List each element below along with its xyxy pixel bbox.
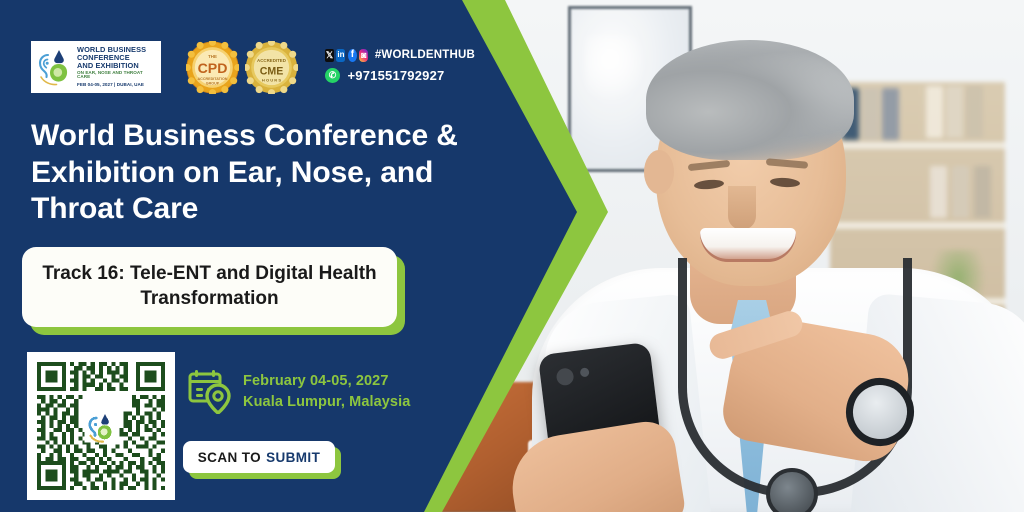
scan-button-face[interactable]: SCAN TO SUBMIT — [183, 441, 335, 473]
logo-date-line: FEB 04-05, 2027 | DUBAI, UAE — [77, 83, 157, 88]
linkedin-icon[interactable]: in — [336, 49, 345, 62]
qr-code-image — [33, 358, 169, 494]
event-logo-text: WORLD BUSINESS CONFERENCE AND EXHIBITION… — [77, 46, 157, 87]
whatsapp-icon[interactable]: ✆ — [325, 68, 340, 83]
social-icons-row: 𝕏 in f ◙ #WORLDENTHUB — [325, 47, 475, 63]
x-twitter-icon[interactable]: 𝕏 — [325, 49, 334, 62]
event-location: Kuala Lumpur, Malaysia — [243, 392, 410, 413]
svg-text:ACCREDITED: ACCREDITED — [257, 58, 286, 63]
conference-banner: WORLD BUSINESS CONFERENCE AND EXHIBITION… — [0, 0, 1024, 512]
hair — [646, 40, 854, 160]
cpd-accreditation-seal: THE CPD ACCREDITATION GROUP — [186, 41, 239, 94]
track-banner[interactable]: Track 16: Tele-ENT and Digital Health Tr… — [22, 247, 397, 327]
cme-hours-seal: ACCREDITED CME H O U R S — [245, 41, 298, 94]
page-title: World Business Conference & Exhibition o… — [31, 118, 471, 228]
track-title: Track 16: Tele-ENT and Digital Health Tr… — [22, 262, 397, 311]
nose — [728, 186, 756, 230]
hashtag-label: #WORLDENTHUB — [375, 49, 475, 61]
phone-number[interactable]: +971551792927 — [348, 68, 445, 83]
location-pin-icon — [207, 385, 229, 413]
whatsapp-row: ✆ +971551792927 — [325, 67, 475, 83]
qr-code[interactable] — [27, 352, 175, 500]
stethoscope-bell-icon — [766, 468, 818, 512]
svg-text:ACCREDITATION: ACCREDITATION — [198, 77, 228, 81]
scan-to-submit-button[interactable]: SCAN TO SUBMIT — [183, 441, 335, 473]
event-logo[interactable]: WORLD BUSINESS CONFERENCE AND EXHIBITION… — [31, 41, 161, 93]
svg-text:H O U R S: H O U R S — [262, 78, 281, 83]
event-detail-text: February 04-05, 2027 Kuala Lumpur, Malay… — [243, 368, 410, 412]
svg-text:GROUP: GROUP — [206, 82, 220, 86]
instagram-icon[interactable]: ◙ — [359, 49, 368, 62]
smile — [700, 228, 796, 262]
social-contact-block: 𝕏 in f ◙ #WORLDENTHUB ✆ +971551792927 — [325, 47, 475, 83]
ear — [644, 150, 674, 194]
logo-line-3: AND EXHIBITION — [77, 62, 157, 70]
svg-text:CME: CME — [260, 66, 284, 78]
event-detail-icons — [188, 368, 234, 414]
event-details: February 04-05, 2027 Kuala Lumpur, Malay… — [188, 368, 410, 414]
svg-text:THE: THE — [208, 54, 217, 59]
scan-button-label-accent: SUBMIT — [266, 450, 320, 465]
svg-text:CPD: CPD — [198, 60, 228, 76]
event-date: February 04-05, 2027 — [243, 371, 410, 392]
track-banner-card: Track 16: Tele-ENT and Digital Health Tr… — [22, 247, 397, 327]
scan-button-label-primary: SCAN TO — [198, 450, 261, 465]
doctor-figure — [560, 0, 1024, 512]
logo-subtitle: ON EAR, NOSE AND THROAT CARE — [77, 71, 157, 80]
ear-nose-throat-logo-icon — [35, 46, 73, 88]
facebook-icon[interactable]: f — [348, 49, 357, 62]
